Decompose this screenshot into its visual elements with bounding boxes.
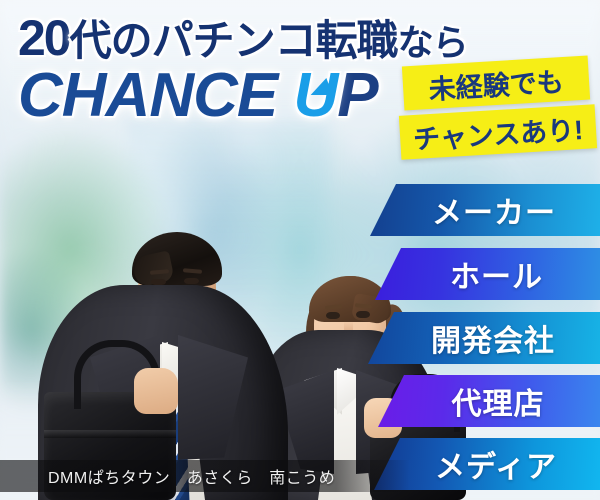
photo-man [38,150,288,500]
category-tag-hall[interactable]: ホール [375,248,600,300]
man-eye-right [184,278,199,284]
headline-age-number: 20 [18,10,70,66]
man-briefcase-seam [44,430,176,438]
woman-eye-left [326,312,340,319]
category-tag-maker[interactable]: メーカー [370,184,600,236]
promo-banner[interactable]: 20代のパチンコ転職なら CHANCE UP 未経験でも チャンスあり! メーカ… [0,0,600,500]
wordmark-up-p: P [337,61,377,130]
headline-line-1-text: 代のパチンコ転職 [70,17,398,64]
badge-no-experience-label: 未経験でも [427,60,564,107]
category-tag-hall-label: ホール [450,252,543,296]
wordmark-up-u: U [293,63,337,128]
woman-eye-right [356,311,370,318]
category-tag-media-label: メディア [435,442,557,486]
headline-line-1-suffix: なら [398,22,468,63]
up-arrow-icon [311,78,336,95]
category-tag-agency-label: 代理店 [452,379,545,423]
category-tag-developer-label: 開発会社 [431,316,555,360]
category-tag-agency[interactable]: 代理店 [378,375,600,427]
badge-chance-available-label: チャンスあり! [412,107,584,156]
category-tag-developer[interactable]: 開発会社 [368,312,600,364]
man-hand [134,368,178,414]
headline-line-1: 20代のパチンコ転職なら [18,12,468,65]
wordmark-chance: CHANCE [18,61,277,130]
category-tag-maker-label: メーカー [432,188,556,232]
credit-caption-text: DMMぱちタウン あさくら 南こうめ [48,464,335,488]
headline-block: 20代のパチンコ転職なら CHANCE UP [18,12,468,128]
man-hair [132,232,222,286]
credit-caption-bar: DMMぱちタウン あさくら 南こうめ [0,460,410,492]
